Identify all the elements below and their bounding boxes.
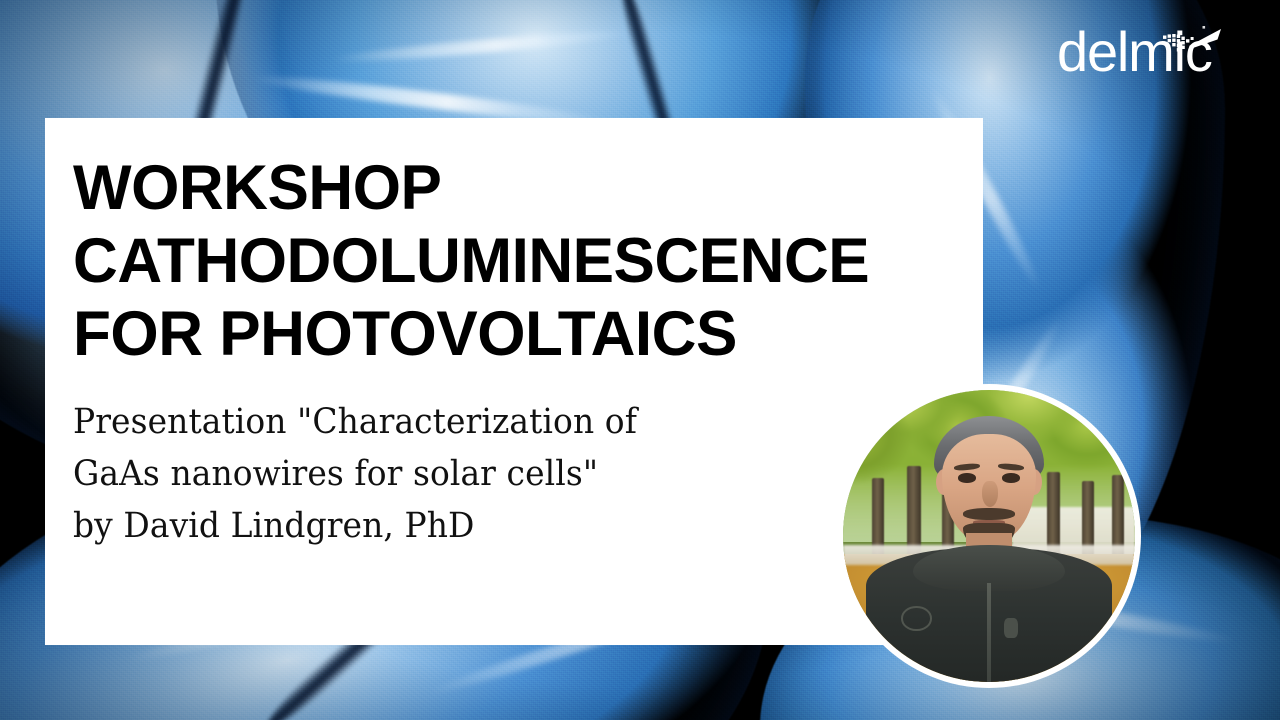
- person-jacket-drawstring: [901, 606, 931, 630]
- presentation-subtitle: Presentation "Characterization of GaAs n…: [73, 397, 910, 552]
- speaker-avatar: [843, 390, 1135, 682]
- content-card-inner: WORKSHOP CATHODOLUMINESCENCE FOR PHOTOVO…: [73, 152, 963, 553]
- person-jacket-pocket: [1004, 618, 1019, 638]
- photo-person: [843, 390, 1135, 682]
- delmic-logo[interactable]: delmic: [1045, 18, 1250, 80]
- person-jacket-zipper: [987, 583, 992, 682]
- speaker-photo: [843, 390, 1135, 682]
- slide-canvas: delmic WORKSHOP CATHODOLUMINESCENCE FOR …: [0, 0, 1280, 720]
- person-eye-right: [1002, 473, 1020, 482]
- person-moustache: [963, 508, 1016, 520]
- person-nose: [982, 481, 998, 507]
- person-eye-left: [958, 473, 976, 482]
- logo-wordmark: delmic: [1057, 20, 1212, 80]
- page-title: WORKSHOP CATHODOLUMINESCENCE FOR PHOTOVO…: [73, 152, 950, 371]
